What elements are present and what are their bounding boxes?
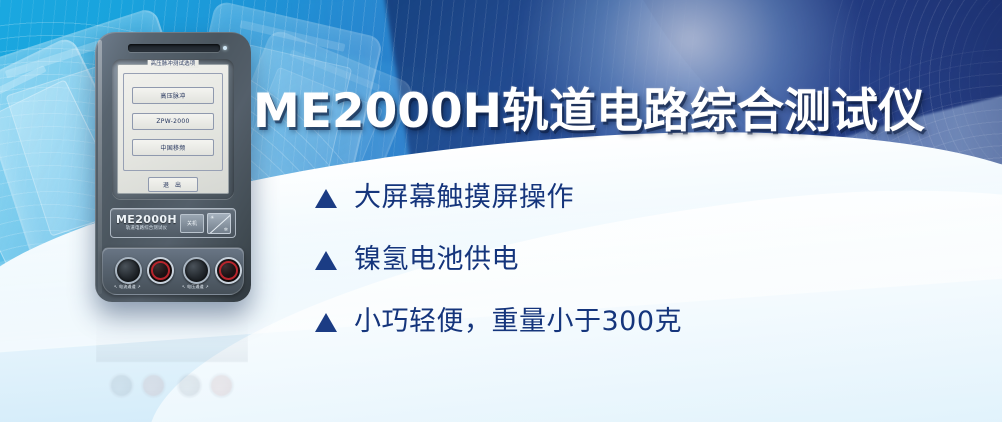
jack-voltage-black[interactable]: [183, 257, 210, 284]
triangle-up-icon: [315, 251, 337, 270]
device-sub-brand: 轨道电路综合测试仪: [126, 226, 167, 232]
device-speaker-slot: [128, 44, 220, 52]
feature-text: 大屏幕触摸屏操作: [354, 181, 574, 215]
jack-caption-voltage: ↖ 电压通道 ↗: [182, 284, 209, 290]
power-off-button[interactable]: 关机: [180, 214, 204, 233]
screen-button-zpw-2000[interactable]: ZPW-2000: [132, 113, 214, 130]
feature-text: 小巧轻便，重量小于300克: [354, 305, 682, 339]
device-screen-bezel: 高压脉冲测试选项 高压脉冲 ZPW-2000 中国移频 退 出: [112, 59, 234, 199]
page-title: ME2000H轨道电路综合测试仪: [253, 84, 925, 140]
product-banner: 高压脉冲测试选项 高压脉冲 ZPW-2000 中国移频 退 出 ME2000H …: [0, 0, 1002, 422]
list-item: 镍氢电池供电: [315, 240, 682, 280]
jack-voltage-red[interactable]: [215, 257, 242, 284]
screen-button-china-shift-freq[interactable]: 中国移频: [132, 139, 214, 156]
feature-list: 大屏幕触摸屏操作 镍氢电池供电 小巧轻便，重量小于300克: [315, 178, 682, 364]
screen-button-exit[interactable]: 退 出: [148, 177, 198, 192]
triangle-up-icon: [315, 189, 337, 208]
feature-text: 镍氢电池供电: [354, 243, 519, 277]
jack-caption-current: ↖ 电流通道 ↗: [114, 284, 141, 290]
contrast-icon: ✲: [224, 227, 228, 233]
power-led-icon: [223, 46, 227, 50]
screen-title: 高压脉冲测试选项: [148, 60, 199, 68]
product-device: 高压脉冲测试选项 高压脉冲 ZPW-2000 中国移频 退 出 ME2000H …: [95, 32, 251, 302]
jack-current-black[interactable]: [115, 257, 142, 284]
device-brand-plate: ME2000H 轨道电路综合测试仪 关机 ☀ ✲: [110, 208, 236, 238]
screen-button-high-voltage-pulse[interactable]: 高压脉冲: [132, 87, 214, 104]
brightness-icon: ☀: [210, 215, 214, 221]
contrast-adjust-button[interactable]: ☀ ✲: [207, 213, 231, 234]
jack-current-red[interactable]: [147, 257, 174, 284]
device-connector-panel: ↖ 电流通道 ↗ ↖ 电压通道 ↗: [102, 247, 244, 295]
device-brand-group: ME2000H 轨道电路综合测试仪: [115, 214, 178, 232]
triangle-up-icon: [315, 313, 337, 332]
device-screen: 高压脉冲测试选项 高压脉冲 ZPW-2000 中国移频 退 出: [117, 64, 229, 194]
list-item: 小巧轻便，重量小于300克: [315, 302, 682, 342]
list-item: 大屏幕触摸屏操作: [315, 178, 682, 218]
device-brand-name: ME2000H: [116, 214, 177, 226]
